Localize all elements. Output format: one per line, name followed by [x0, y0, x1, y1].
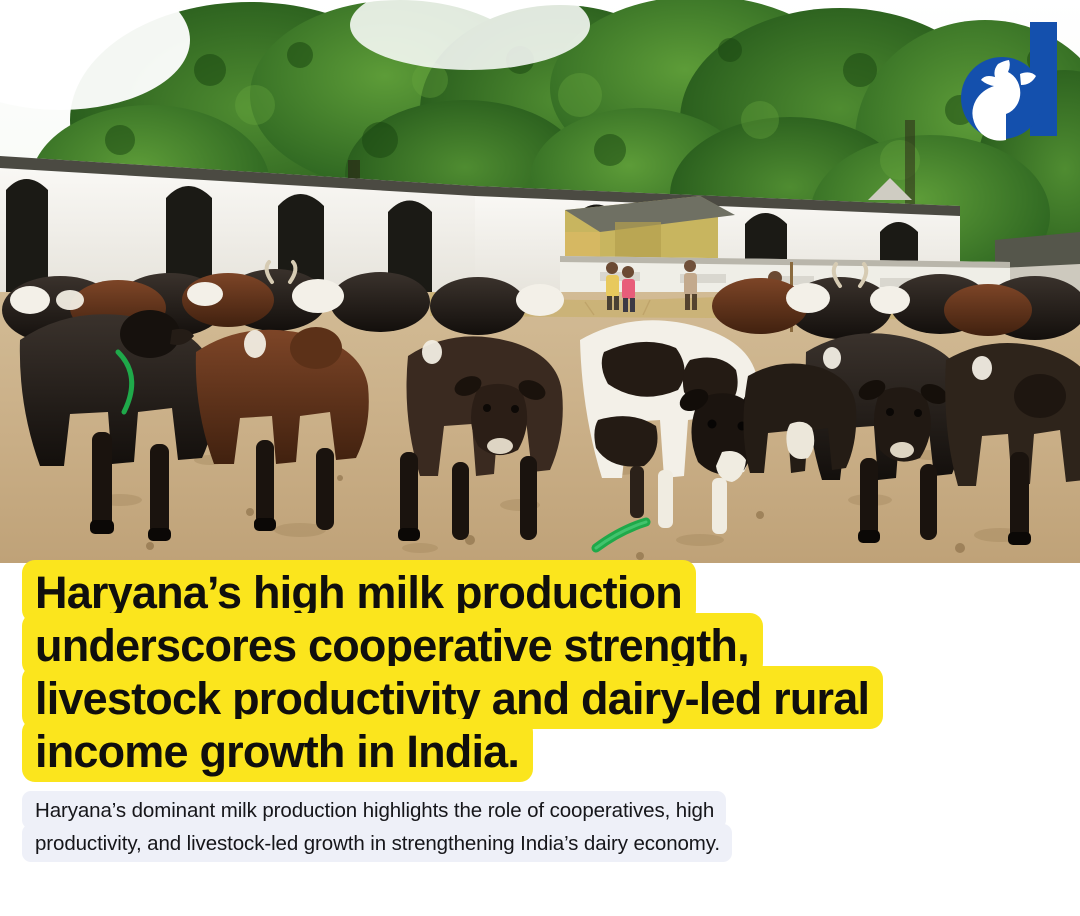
photo-illustration — [0, 0, 1080, 563]
page-title: Haryana’s high milk production underscor… — [22, 566, 1050, 778]
subtitle-container: Haryana’s dominant milk production highl… — [0, 794, 1080, 860]
cow — [20, 310, 216, 466]
cattle-herd-photo — [0, 0, 1080, 563]
cow — [743, 364, 856, 474]
news-card: Haryana’s high milk production underscor… — [0, 0, 1080, 916]
subtitle-line: productivity, and livestock-led growth i… — [22, 824, 732, 862]
headline-container: Haryana’s high milk production underscor… — [0, 566, 1080, 778]
headline-line: income growth in India. — [22, 719, 533, 782]
cow-head-in-letter-d-logo — [954, 18, 1062, 142]
subtitle-text: Haryana’s dominant milk production highl… — [22, 794, 1040, 860]
brand-logo[interactable] — [954, 18, 1062, 142]
